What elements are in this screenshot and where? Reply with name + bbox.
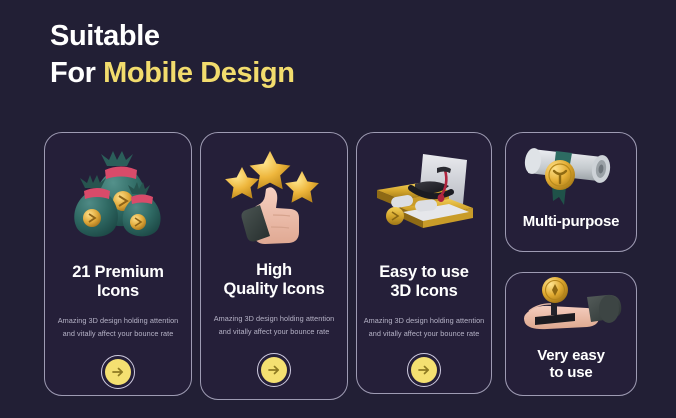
card-cta-button[interactable] — [257, 353, 291, 387]
card-title: Multi-purpose — [523, 213, 620, 230]
card-description: Amazing 3D design holding attention and … — [204, 313, 345, 339]
card-title-line-1: Very easy — [537, 347, 604, 364]
card-title: Easy to use 3D Icons — [379, 263, 469, 301]
page-title-line-2: For Mobile Design — [50, 55, 295, 92]
page-title-line-1: Suitable — [50, 18, 295, 55]
money-bags-3d-icon — [45, 133, 191, 259]
card-title-line-1: High — [223, 261, 324, 280]
page-title-prefix: For — [50, 57, 103, 89]
card-description: Amazing 3D design holding attention and … — [48, 315, 189, 341]
card-title-line-1: Easy to use — [379, 263, 469, 282]
card-description-line-1: Amazing 3D design holding attention — [58, 315, 179, 328]
feature-card-premium-icons[interactable]: 21 Premium Icons Amazing 3D design holdi… — [44, 132, 192, 396]
feature-card-easy-to-use-3d-icons[interactable]: Easy to use 3D Icons Amazing 3D design h… — [356, 132, 492, 394]
graduation-cap-books-3d-icon — [357, 133, 491, 259]
card-title-line-2: to use — [537, 364, 604, 381]
promo-page: Suitable For Mobile Design — [0, 0, 676, 418]
card-description-line-1: Amazing 3D design holding attention — [214, 313, 335, 326]
card-title: 21 Premium Icons — [72, 263, 164, 301]
hand-holding-trophy-3d-icon — [506, 273, 636, 347]
card-description: Amazing 3D design holding attention and … — [360, 315, 489, 341]
feature-card-very-easy-to-use[interactable]: Very easy to use — [505, 272, 637, 396]
card-cta-button[interactable] — [407, 353, 441, 387]
card-title-line-1: Multi-purpose — [523, 213, 620, 230]
card-title-line-2: 3D Icons — [379, 282, 469, 301]
arrow-right-icon — [105, 359, 131, 385]
card-description-line-2: and vitally affect your bounce rate — [58, 328, 179, 341]
arrow-right-icon — [411, 357, 437, 383]
feature-card-high-quality-icons[interactable]: High Quality Icons Amazing 3D design hol… — [200, 132, 348, 400]
card-title-line-1: 21 Premium — [72, 263, 164, 282]
card-description-line-2: and vitally affect your bounce rate — [364, 328, 485, 341]
arrow-right-icon — [261, 357, 287, 383]
card-cta-button[interactable] — [101, 355, 135, 389]
card-description-line-2: and vitally affect your bounce rate — [214, 326, 335, 339]
page-title-accent: Mobile Design — [103, 57, 294, 89]
feature-card-multi-purpose[interactable]: Multi-purpose — [505, 132, 637, 252]
card-title-line-2: Quality Icons — [223, 280, 324, 299]
thumbs-up-stars-3d-icon — [201, 133, 347, 257]
card-title: High Quality Icons — [223, 261, 324, 299]
card-title: Very easy to use — [537, 347, 604, 382]
diploma-scroll-medal-3d-icon — [506, 133, 636, 215]
page-title: Suitable For Mobile Design — [50, 18, 295, 92]
card-title-line-2: Icons — [72, 282, 164, 301]
card-description-line-1: Amazing 3D design holding attention — [364, 315, 485, 328]
